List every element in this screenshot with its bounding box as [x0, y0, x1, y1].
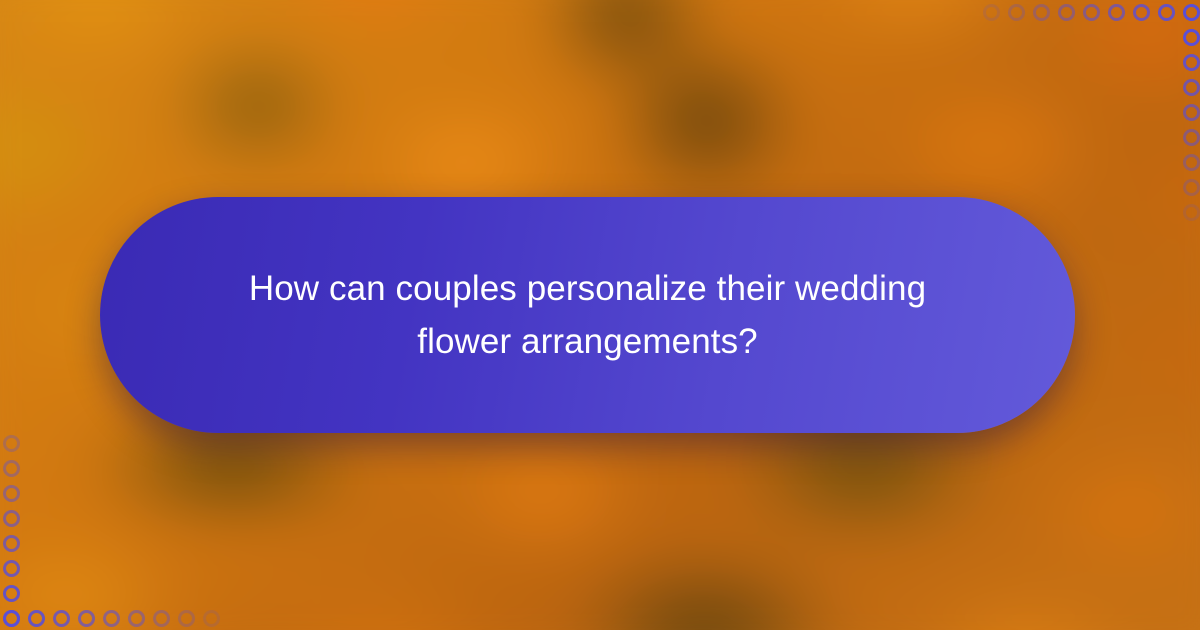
decorative-dot [1183, 54, 1200, 71]
question-card: How can couples personalize their weddin… [100, 197, 1075, 433]
decorative-dot [1183, 4, 1200, 21]
decorative-dot [128, 610, 145, 627]
decorative-dot [1183, 204, 1200, 221]
decorative-dot [3, 560, 20, 577]
decorative-dot [3, 460, 20, 477]
decorative-dot [1183, 29, 1200, 46]
decorative-dot [3, 485, 20, 502]
decorative-dot [1133, 4, 1150, 21]
decorative-dot [1083, 4, 1100, 21]
decorative-dot [203, 610, 220, 627]
decorative-dot [1158, 4, 1175, 21]
decorative-dot [1183, 104, 1200, 121]
decorative-dot [3, 510, 20, 527]
decorative-dot [3, 535, 20, 552]
decorative-dot [1058, 4, 1075, 21]
decorative-dot [983, 4, 1000, 21]
question-card-canvas: How can couples personalize their weddin… [0, 0, 1200, 630]
decorative-dot [178, 610, 195, 627]
decorative-dot [28, 610, 45, 627]
decorative-dot [53, 610, 70, 627]
decorative-dot [1108, 4, 1125, 21]
decorative-dot [1033, 4, 1050, 21]
decorative-dot [1008, 4, 1025, 21]
question-text: How can couples personalize their weddin… [208, 262, 968, 368]
decorative-dot [3, 610, 20, 627]
decorative-dot [1183, 154, 1200, 171]
decorative-dot [3, 435, 20, 452]
decorative-dot [1183, 79, 1200, 96]
decorative-dot [3, 585, 20, 602]
decorative-dot [78, 610, 95, 627]
decorative-dot [1183, 129, 1200, 146]
decorative-dot [1183, 179, 1200, 196]
decorative-dot [153, 610, 170, 627]
decorative-dot [103, 610, 120, 627]
